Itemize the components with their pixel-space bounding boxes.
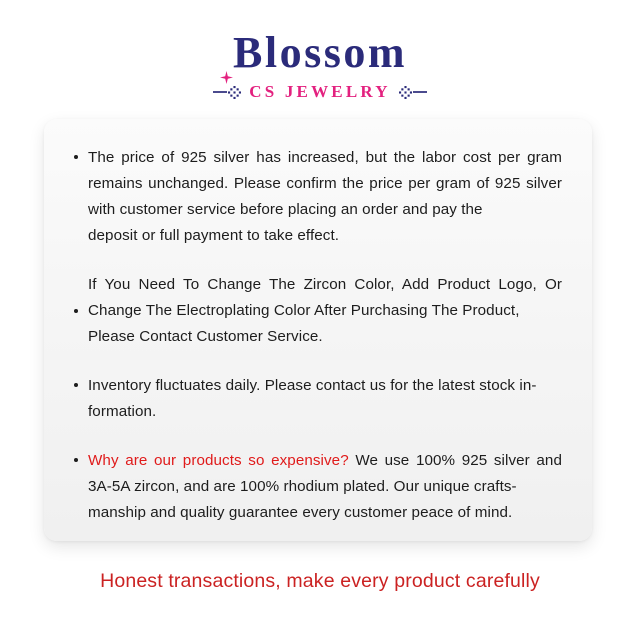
snowflake-ornament-icon-left <box>213 85 242 100</box>
brand-wordmark: Blossom <box>233 30 407 76</box>
ornament-dash-right <box>413 91 427 93</box>
notice-last-line: deposit or full payment to take effect. <box>88 223 562 249</box>
list-item: The price of 925 silver has increased, b… <box>74 145 562 249</box>
bullet-icon <box>74 155 78 159</box>
bullet-icon <box>74 458 78 462</box>
snowflake-ornament-icon-right <box>398 85 427 100</box>
notice-body: Inventory fluctuates daily. Please conta… <box>88 377 537 394</box>
notice-highlight: Why are our products so expensive? <box>88 452 349 469</box>
footer-slogan: Honest transactions, make every product … <box>0 570 640 593</box>
bullet-icon <box>74 309 78 313</box>
list-item: Inventory fluctuates daily. Please conta… <box>74 373 562 425</box>
notice-last-line: Please Contact Customer Service. <box>88 324 562 350</box>
brand-subtitle-text: CS JEWELRY <box>249 82 390 102</box>
sparkle-icon <box>220 47 233 60</box>
notice-body: The price of 925 silver has increased, b… <box>88 149 562 218</box>
notice-last-line: formation. <box>88 399 562 425</box>
brand-name-text: Blossom <box>233 28 407 77</box>
promo-notice-page: Blossom <box>0 0 640 640</box>
bullet-icon <box>74 383 78 387</box>
notice-card: The price of 925 silver has increased, b… <box>44 119 592 541</box>
notice-body: If You Need To Change The Zircon Color, … <box>88 276 562 319</box>
brand-header: Blossom <box>0 30 640 102</box>
list-item: If You Need To Change The Zircon Color, … <box>74 272 562 350</box>
notice-list: The price of 925 silver has increased, b… <box>74 145 562 526</box>
ornament-dash-left <box>213 91 227 93</box>
notice-last-line: manship and quality guarantee every cust… <box>88 500 562 526</box>
brand-subtitle-row: CS JEWELRY <box>0 82 640 102</box>
list-item: Why are our products so expensive? We us… <box>74 448 562 526</box>
